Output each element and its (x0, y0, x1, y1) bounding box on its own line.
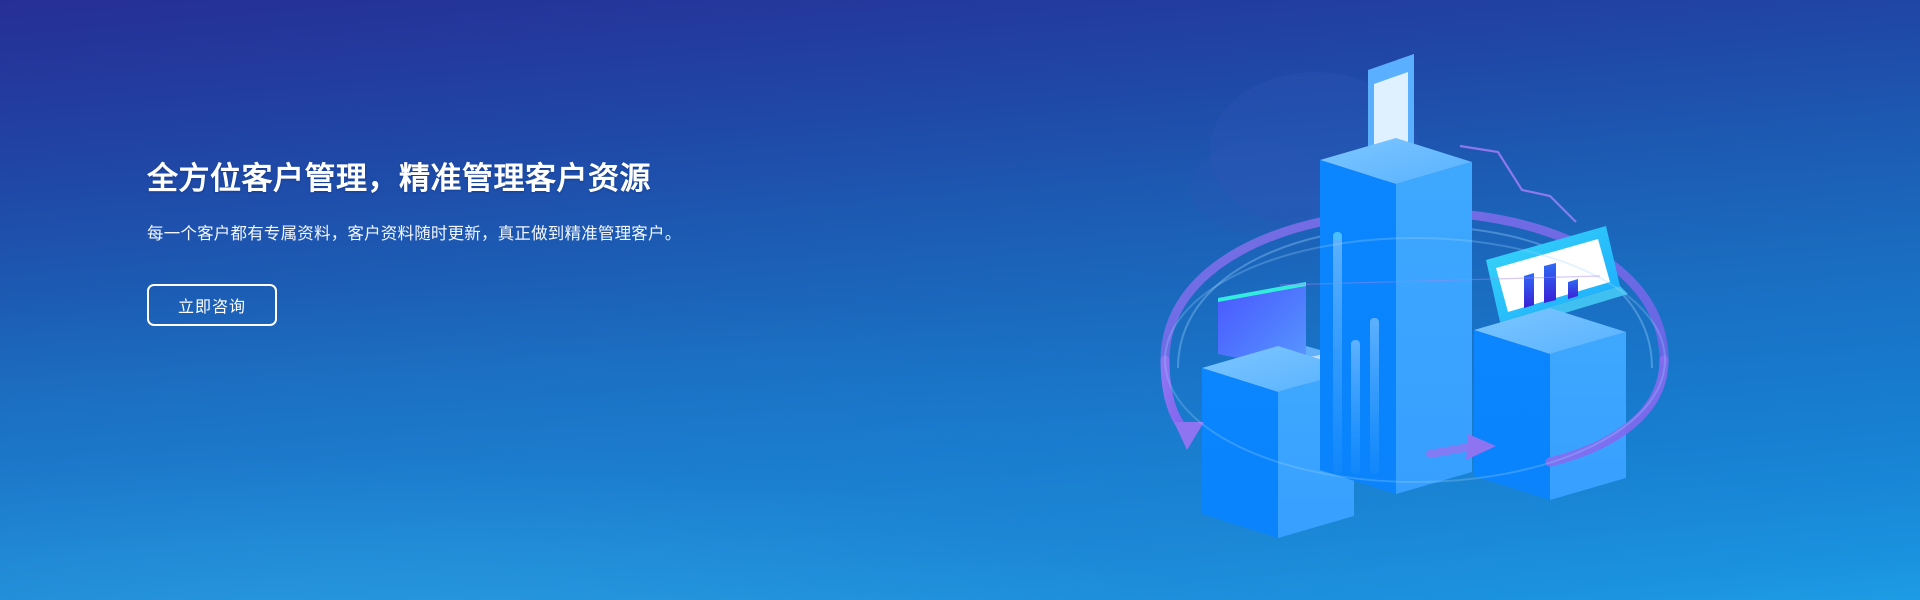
page-title: 全方位客户管理，精准管理客户资源 (147, 160, 787, 199)
arrow-down-icon (1174, 422, 1204, 450)
connector-line (1460, 146, 1576, 222)
hero-banner: 全方位客户管理，精准管理客户资源 每一个客户都有专属资料，客户资料随时更新，真正… (0, 0, 1920, 600)
hero-copy-block: 全方位客户管理，精准管理客户资源 每一个客户都有专属资料，客户资料随时更新，真正… (147, 160, 787, 326)
hero-description: 每一个客户都有专属资料，客户资料随时更新，真正做到精准管理客户。 (147, 221, 737, 248)
hero-illustration (1130, 30, 1690, 570)
consult-now-button[interactable]: 立即咨询 (147, 284, 277, 326)
